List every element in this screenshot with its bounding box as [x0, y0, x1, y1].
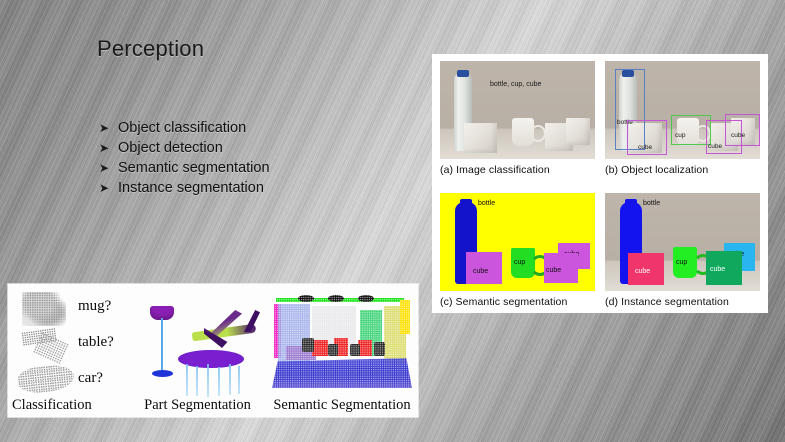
figure-a-image-classification: bottle, cup, cube (a) Image classificati…: [440, 61, 595, 176]
perception-figure-panel: bottle, cup, cube (a) Image classificati…: [432, 54, 768, 313]
figure-d-instance-segmentation: bottle cube cup cube cube (d) Instance s…: [605, 193, 760, 308]
caption-part-segmentation: Part Segmentation: [130, 397, 265, 414]
bbox-label-cube: cube: [708, 143, 722, 150]
bullet-arrow-icon: ➤: [99, 118, 118, 138]
scene-ceiling-lamp: [298, 295, 314, 302]
page-title: Perception: [97, 36, 204, 62]
pointcloud-classification-column: mug? table? car? Classification: [8, 284, 126, 417]
table-legs-shape: [184, 364, 240, 398]
bottle-cap-object: [457, 70, 469, 77]
scene-object-dark: [374, 342, 385, 356]
pointcloud-part-segmentation-column: Part Segmentation: [130, 284, 265, 417]
instance-label-cube: cube: [710, 266, 725, 273]
query-label-mug: mug?: [78, 298, 111, 315]
figure-b-object-localization: bottle cube cup cube cube (b) Object loc…: [605, 61, 760, 176]
bullet-item-object-classification: ➤ Object classification: [99, 118, 270, 138]
lamp-base-shape: [152, 370, 173, 377]
bbox-label-cube: cube: [731, 132, 745, 139]
scene-object-red: [358, 340, 372, 356]
indoor-scene-pointcloud: [272, 292, 412, 390]
bullet-list: ➤ Object classification ➤ Object detecti…: [99, 118, 270, 198]
pointcloud-figure-panel: mug? table? car? Classification Part Seg…: [8, 284, 418, 417]
query-label-table: table?: [78, 334, 114, 351]
airplane-pointcloud: [186, 304, 264, 348]
bullet-label: Semantic segmentation: [118, 158, 270, 178]
pointcloud-table-icon: [20, 328, 72, 362]
figure-c-image: bottle cube cup cube cube: [440, 193, 595, 291]
table-pointcloud: [178, 350, 244, 398]
scene-object-dark: [328, 344, 338, 356]
bbox-cube: [725, 114, 760, 146]
segment-bottle-cap: [460, 199, 472, 207]
bullet-item-semantic-segmentation: ➤ Semantic segmentation: [99, 158, 270, 178]
instance-label-bottle: bottle: [643, 200, 660, 207]
bullet-label: Object detection: [118, 138, 223, 158]
lamp-pole-shape: [161, 318, 163, 372]
bullet-label: Instance segmentation: [118, 178, 264, 198]
bullet-arrow-icon: ➤: [99, 178, 118, 198]
caption-classification: Classification: [12, 397, 92, 414]
mug-handle-object: [530, 125, 546, 142]
pointcloud-semantic-segmentation-column: Semantic Segmentation: [266, 284, 418, 417]
cube-object: [464, 123, 497, 153]
pointcloud-car-icon: [17, 363, 75, 395]
bullet-arrow-icon: ➤: [99, 138, 118, 158]
bullet-item-instance-segmentation: ➤ Instance segmentation: [99, 178, 270, 198]
bbox-label-cup: cup: [675, 132, 685, 139]
scene-ceiling-lamp: [358, 295, 374, 302]
figure-a-image: bottle, cup, cube: [440, 61, 595, 159]
instance-label-cube: cube: [635, 268, 650, 275]
image-class-label: bottle, cup, cube: [490, 81, 541, 88]
scene-object-dark: [350, 344, 360, 356]
bbox-label-cube: cube: [638, 144, 652, 151]
slide-canvas: Perception ➤ Object classification ➤ Obj…: [0, 0, 785, 442]
bullet-arrow-icon: ➤: [99, 158, 118, 178]
segment-label-bottle: bottle: [478, 200, 495, 207]
figure-c-semantic-segmentation: bottle cube cup cube cube (c) Semantic s…: [440, 193, 595, 308]
segment-label-cup: cup: [514, 259, 525, 266]
figure-b-caption: (b) Object localization: [605, 164, 760, 176]
scene-ceiling-lamp: [328, 295, 344, 302]
bullet-item-object-detection: ➤ Object detection: [99, 138, 270, 158]
caption-semantic-segmentation: Semantic Segmentation: [266, 397, 418, 414]
query-label-car: car?: [78, 370, 103, 387]
bbox-cup: [671, 115, 711, 145]
scene-object-red: [312, 340, 328, 356]
instance-label-cup: cup: [676, 259, 687, 266]
scene-object-dark: [302, 338, 314, 352]
segment-label-cube: cube: [473, 268, 488, 275]
figure-a-caption: (a) Image classification: [440, 164, 595, 176]
segment-label-cube: cube: [546, 267, 561, 274]
figure-d-caption: (d) Instance segmentation: [605, 296, 760, 308]
bullet-label: Object classification: [118, 118, 246, 138]
cube-object: [566, 118, 590, 145]
pointcloud-mug-icon: [22, 292, 66, 326]
figure-d-image: bottle cube cup cube cube: [605, 193, 760, 291]
instance-bottle-cap: [625, 199, 637, 207]
figure-c-caption: (c) Semantic segmentation: [440, 296, 595, 308]
figure-b-image: bottle cube cup cube cube: [605, 61, 760, 159]
scene-wall-yellow-right: [400, 300, 410, 334]
